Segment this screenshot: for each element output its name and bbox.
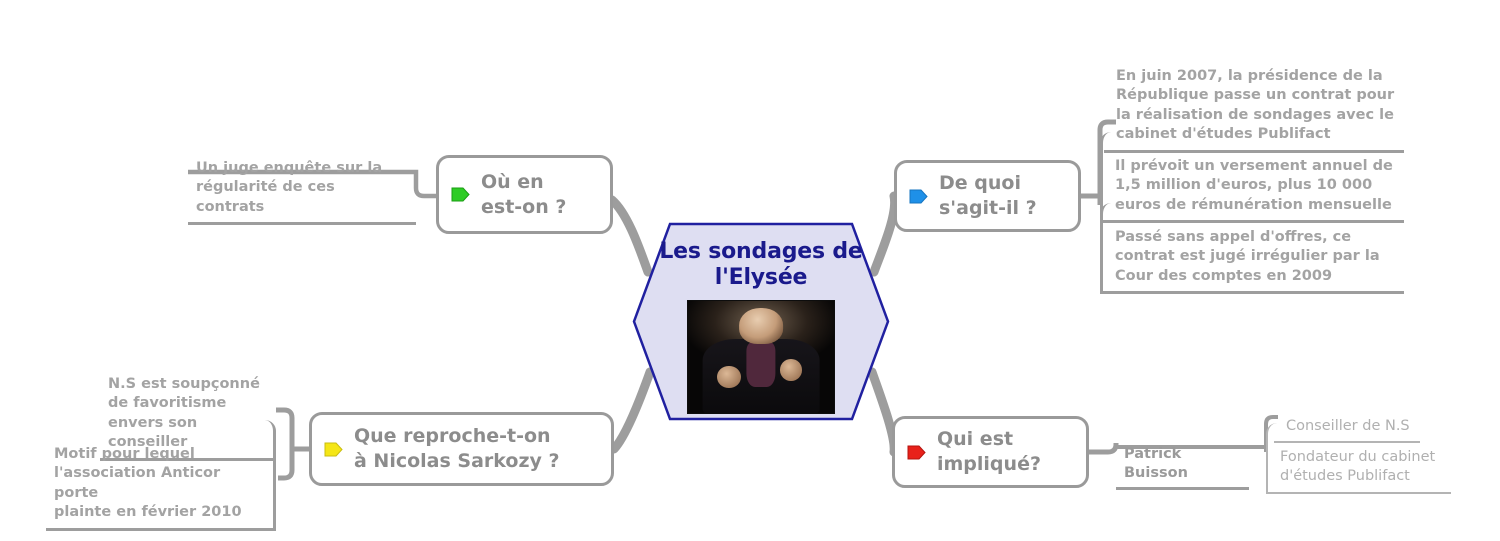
central-topic-node[interactable]: Les sondages de l'Elysée bbox=[632, 222, 890, 421]
leaf-node-juge-enquete[interactable]: Un juge enquête sur la régularité de ces… bbox=[188, 134, 416, 225]
leaf-text: En juin 2007, la présidence de la Républ… bbox=[1116, 68, 1394, 143]
branch-node-de-quoi-sagit-il[interactable]: De quoi s'agit-il ? bbox=[894, 160, 1081, 232]
branch-node-que-reproche-t-on[interactable]: Que reproche-t-on à Nicolas Sarkozy ? bbox=[309, 412, 614, 486]
leaf-text: Patrick Buisson bbox=[1124, 446, 1188, 482]
central-topic-title: Les sondages de l'Elysée bbox=[632, 239, 890, 291]
mindmap-canvas: Les sondages de l'Elysée Où en est-on ? … bbox=[0, 0, 1500, 541]
leaf-node-fondateur-publifact[interactable]: Fondateur du cabinet d'études Publifact bbox=[1266, 423, 1451, 494]
branch-label-ou-en-est-on: Où en est-on ? bbox=[481, 170, 566, 220]
leaf-text: Passé sans appel d'offres, ce contrat es… bbox=[1115, 229, 1380, 284]
branch-node-ou-en-est-on[interactable]: Où en est-on ? bbox=[436, 155, 613, 234]
branch-label-que-reproche-t-on: Que reproche-t-on à Nicolas Sarkozy ? bbox=[354, 424, 560, 474]
flag-green-icon bbox=[451, 186, 470, 203]
central-topic-image bbox=[687, 300, 835, 414]
leaf-text: Un juge enquête sur la régularité de ces… bbox=[196, 160, 382, 215]
branch-node-qui-est-implique[interactable]: Qui est impliqué? bbox=[892, 416, 1089, 488]
leaf-text: Fondateur du cabinet d'études Publifact bbox=[1280, 449, 1435, 485]
leaf-text: Motif pour lequel l'association Anticor … bbox=[54, 446, 242, 521]
flag-red-icon bbox=[907, 444, 926, 461]
leaf-node-sans-appel-offres[interactable]: Passé sans appel d'offres, ce contrat es… bbox=[1100, 203, 1404, 294]
flag-yellow-icon bbox=[324, 441, 343, 458]
flag-blue-icon bbox=[909, 188, 928, 205]
leaf-node-patrick-buisson[interactable]: Patrick Buisson bbox=[1116, 420, 1249, 490]
leaf-node-anticor-plainte[interactable]: Motif pour lequel l'association Anticor … bbox=[46, 420, 276, 531]
branch-label-qui-est-implique: Qui est impliqué? bbox=[937, 427, 1041, 477]
branch-label-de-quoi-sagit-il: De quoi s'agit-il ? bbox=[939, 171, 1037, 221]
